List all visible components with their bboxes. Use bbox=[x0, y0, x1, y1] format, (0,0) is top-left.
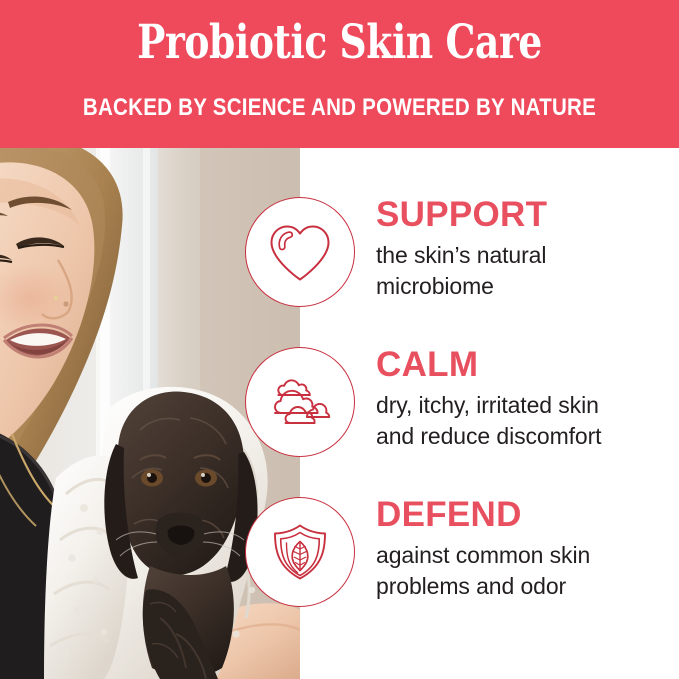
feature-calm-body-line1: dry, itchy, irritated skin bbox=[376, 390, 676, 421]
page-title: Probiotic Skin Care bbox=[68, 19, 611, 66]
feature-support: SUPPORT the skin’s natural microbiome bbox=[300, 197, 679, 329]
heart-icon bbox=[263, 215, 337, 289]
probiotic-skin-care-poster: Probiotic Skin Care BACKED BY SCIENCE AN… bbox=[0, 0, 679, 679]
shield-leaf-icon bbox=[263, 515, 337, 589]
feature-support-body: the skin’s natural microbiome bbox=[376, 240, 676, 302]
feature-support-heading: SUPPORT bbox=[376, 195, 676, 235]
feature-defend-body-line1: against common skin bbox=[376, 540, 676, 571]
heart-icon-badge bbox=[245, 197, 355, 307]
page-subtitle: BACKED BY SCIENCE AND POWERED BY NATURE bbox=[49, 96, 630, 120]
feature-support-text: SUPPORT the skin’s natural microbiome bbox=[376, 195, 676, 302]
feature-support-body-line1: the skin’s natural bbox=[376, 240, 676, 271]
feature-defend: DEFEND against common skin problems and … bbox=[300, 497, 679, 629]
feature-calm-body-line2: and reduce discomfort bbox=[376, 421, 676, 452]
feature-defend-body: against common skin problems and odor bbox=[376, 540, 676, 602]
feature-calm: CALM dry, itchy, irritated skin and redu… bbox=[300, 347, 679, 479]
feature-defend-body-line2: problems and odor bbox=[376, 571, 676, 602]
features-panel: SUPPORT the skin’s natural microbiome bbox=[300, 148, 679, 679]
shield-leaf-icon-badge bbox=[245, 497, 355, 607]
feature-calm-text: CALM dry, itchy, irritated skin and redu… bbox=[376, 345, 676, 452]
clouds-icon bbox=[263, 365, 337, 439]
header-banner: Probiotic Skin Care BACKED BY SCIENCE AN… bbox=[0, 0, 679, 148]
feature-calm-body: dry, itchy, irritated skin and reduce di… bbox=[376, 390, 676, 452]
feature-defend-text: DEFEND against common skin problems and … bbox=[376, 495, 676, 602]
feature-calm-heading: CALM bbox=[376, 345, 676, 385]
feature-support-body-line2: microbiome bbox=[376, 271, 676, 302]
clouds-icon-badge bbox=[245, 347, 355, 457]
feature-defend-heading: DEFEND bbox=[376, 495, 676, 535]
